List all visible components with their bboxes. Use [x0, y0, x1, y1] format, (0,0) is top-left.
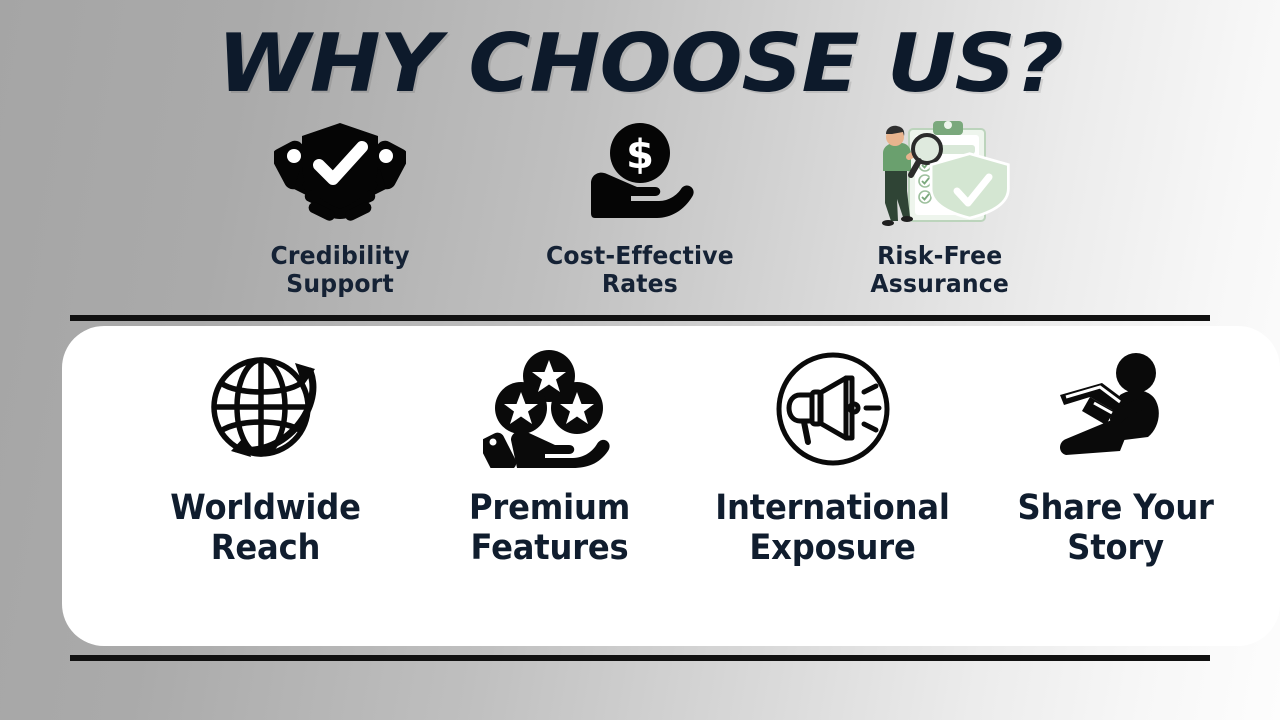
feature-item-worldwide-reach[interactable]: Worldwide Reach — [136, 344, 396, 568]
person-clipboard-shield-check-illustration — [865, 118, 1015, 228]
feature-item-risk-free-assurance[interactable]: Risk-Free Assurance — [840, 118, 1040, 298]
globe-arrows-icon — [207, 344, 325, 474]
feature-label: Risk-Free Assurance — [871, 242, 1010, 298]
feature-label: Share Your Story — [1018, 488, 1214, 568]
svg-text:$: $ — [626, 132, 654, 178]
feature-label: Premium Features — [469, 488, 630, 568]
megaphone-circle-icon — [774, 344, 892, 474]
feature-label: International Exposure — [715, 488, 950, 568]
person-reading-book-icon — [1050, 344, 1182, 474]
feature-item-international-exposure[interactable]: International Exposure — [703, 344, 963, 568]
divider-top — [70, 315, 1210, 321]
feature-item-cost-effective-rates[interactable]: $ Cost-Effective Rates — [540, 118, 740, 298]
top-feature-row: Credibility Support $ Cost-Effective Rat… — [240, 118, 1040, 298]
feature-item-premium-features[interactable]: Premium Features — [419, 344, 679, 568]
feature-label: Worldwide Reach — [171, 488, 361, 568]
features-card: Worldwide Reach — [62, 326, 1280, 646]
handshake-shield-check-icon — [274, 118, 406, 228]
page-title: WHY CHOOSE US? — [0, 18, 1280, 110]
feature-item-share-your-story[interactable]: Share Your Story — [986, 344, 1246, 568]
feature-item-credibility-support[interactable]: Credibility Support — [240, 118, 440, 298]
bottom-feature-row: Worldwide Reach — [136, 344, 1246, 568]
hand-holding-dollar-coin-icon: $ — [585, 118, 695, 228]
hand-holding-star-coins-icon — [483, 344, 615, 474]
divider-bottom — [70, 655, 1210, 661]
feature-label: Credibility Support — [270, 242, 409, 298]
feature-label: Cost-Effective Rates — [546, 242, 734, 298]
slide-canvas: WHY CHOOSE US? — [0, 0, 1280, 720]
